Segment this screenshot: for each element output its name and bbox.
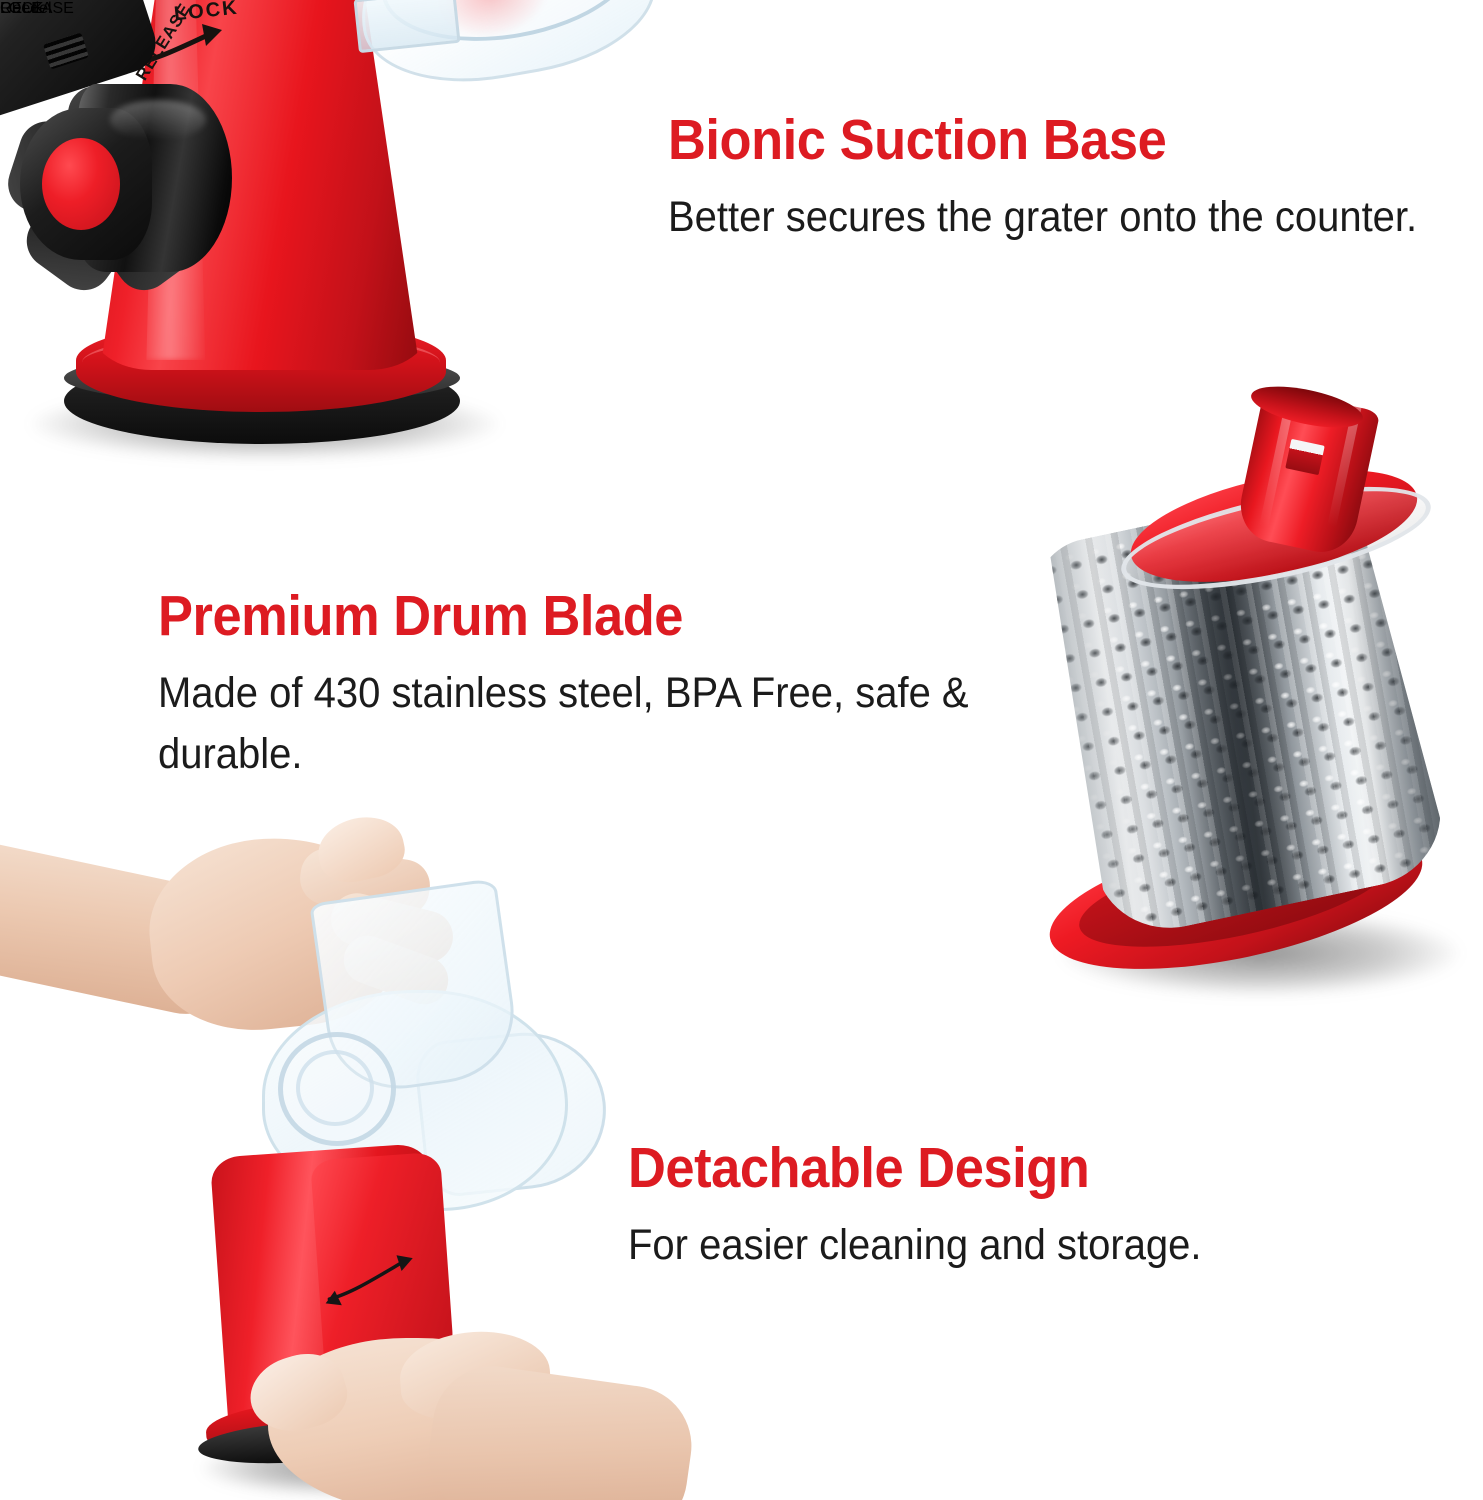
feature-description: Made of 430 stainless steel, BPA Free, s… xyxy=(158,663,1042,785)
feature-block-bionic-suction-base: Bionic Suction Base Better secures the g… xyxy=(668,112,1468,248)
feature-description: For easier cleaning and storage. xyxy=(628,1215,1428,1276)
release-label-secondary: RELEASE xyxy=(0,0,74,18)
product-photo-detachable-hands xyxy=(0,820,630,1500)
feature-title: Premium Drum Blade xyxy=(158,588,986,645)
feature-title: Detachable Design xyxy=(628,1140,1364,1197)
clear-hopper-ring-inner xyxy=(296,1050,374,1126)
feature-block-premium-drum-blade: Premium Drum Blade Made of 430 stainless… xyxy=(158,588,1058,785)
feature-block-detachable-design: Detachable Design For easier cleaning an… xyxy=(628,1140,1428,1276)
feature-title: Bionic Suction Base xyxy=(668,112,1404,169)
knob-highlight xyxy=(110,100,206,140)
product-feature-infographic: LOCK RELEASE xyxy=(0,0,1483,1500)
knob-red-center xyxy=(42,138,120,230)
feature-description: Better secures the grater onto the count… xyxy=(668,187,1468,248)
lower-arm xyxy=(421,1359,699,1500)
lock-release-arrow-icon xyxy=(316,1244,430,1312)
product-photo-drum-blade xyxy=(1040,390,1483,1030)
product-photo-suction-base: LOCK RELEASE xyxy=(0,0,660,460)
